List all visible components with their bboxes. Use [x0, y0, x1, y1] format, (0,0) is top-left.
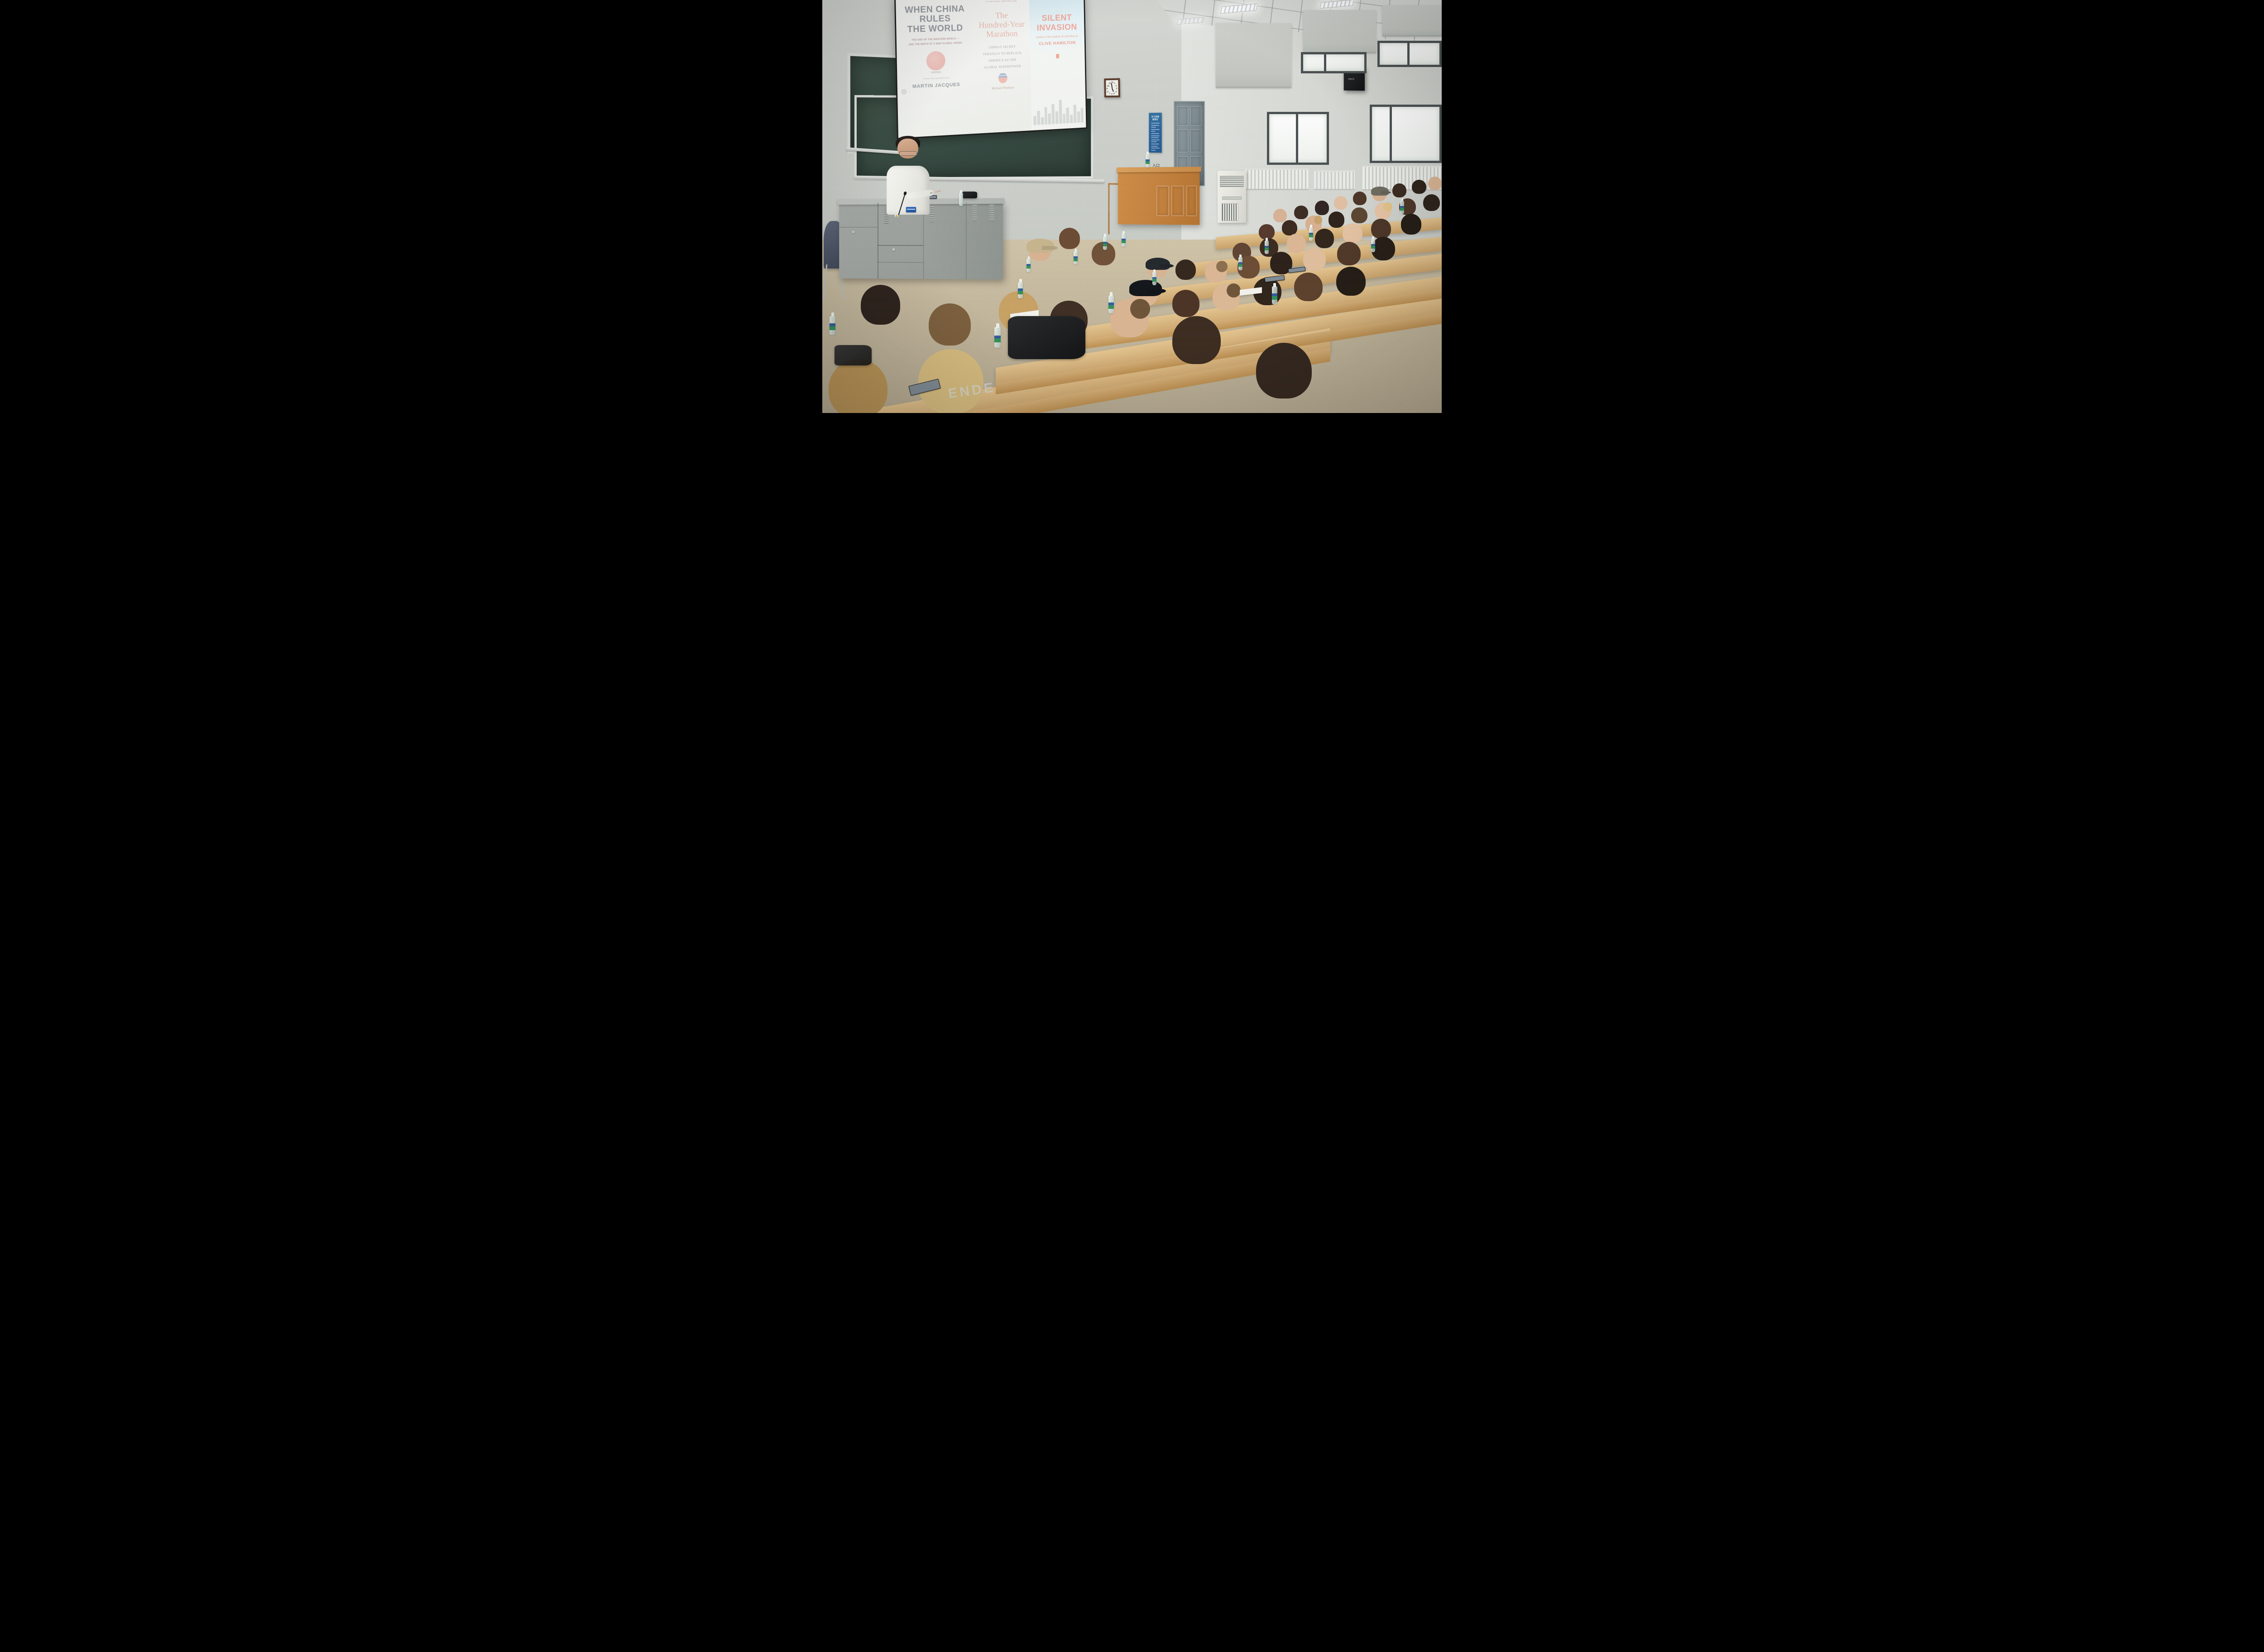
name-placard: [906, 207, 916, 212]
wall-clock: 12 1 2 3 4 5 6 7 8 9 10 11: [1104, 78, 1120, 98]
radiator-3: [1314, 170, 1355, 190]
clock-hour-hand: [1112, 88, 1114, 92]
notice-text-line: [1151, 139, 1159, 140]
water-bottle-on-console[interactable]: [959, 192, 963, 206]
book1-subtitle-line-2: AND THE BIRTH OF A NEW GLOBAL ORDER: [908, 41, 962, 47]
clock-numeral-10: 10: [1107, 85, 1109, 87]
water-bottle[interactable]: [1108, 295, 1114, 313]
water-bottle[interactable]: [1152, 272, 1156, 285]
notice-text-line: [1151, 144, 1159, 144]
water-bottle[interactable]: [1265, 240, 1269, 254]
floor-air-conditioner: [1218, 171, 1246, 223]
flag-egg-illustration: [998, 72, 1007, 83]
notice-text-line: [1151, 148, 1160, 149]
book3-title-line-1: SILENT: [1041, 13, 1072, 23]
book1-title-line-2: RULES: [919, 14, 950, 24]
book2-author: Michael Pillsbury: [991, 85, 1014, 90]
presenter-shirt: [887, 166, 930, 215]
wristwatch: [930, 192, 933, 194]
book1-title-line-1: WHEN CHINA: [905, 4, 965, 15]
roller-blind-3[interactable]: [1382, 5, 1442, 35]
water-bottle[interactable]: [1238, 257, 1242, 270]
clock-numeral-3: 3: [1116, 87, 1118, 90]
book1-blurb: THE NEW YORK TIMES BESTSELLER: [923, 77, 950, 81]
book2-title-line-2: Hundred-Year: [979, 19, 1025, 30]
water-bottle[interactable]: [1122, 233, 1126, 247]
notice-text-line: [1151, 137, 1158, 138]
notice-text-line: [1151, 129, 1159, 130]
notice-text-line: [1151, 150, 1156, 151]
notice-text-line: [1151, 145, 1158, 146]
wooden-lectern: [1118, 170, 1200, 225]
book-cover-when-china-rules-the-world: WHEN CHINA RULES THE WORLD THE END OF TH…: [896, 0, 976, 138]
red-flag-mark-icon: [1056, 54, 1059, 59]
bag-on-desk: [835, 345, 872, 366]
book-cover-the-hundred-year-marathon: #1 NATIONAL BESTSELLER The Hundred-Year …: [973, 0, 1031, 134]
clock-numeral-2: 2: [1116, 85, 1117, 87]
clock-numeral-7: 7: [1109, 92, 1111, 95]
window-lower-center: [1267, 112, 1329, 165]
book2-title-line-3: Marathon: [986, 29, 1017, 39]
book2-bestseller-line: #1 NATIONAL BESTSELLER: [986, 0, 1017, 3]
notice-text-line: [1151, 133, 1159, 134]
water-bottle[interactable]: [1103, 236, 1107, 250]
penguin-logo-icon: [901, 89, 906, 94]
radiator-1: [1245, 168, 1309, 190]
roller-blind-2[interactable]: [1303, 10, 1376, 52]
clock-numeral-4: 4: [1116, 91, 1117, 93]
object-on-console: [962, 192, 977, 198]
book3-subtitle: CHINA'S INFLUENCE IN AUSTRALIA: [1036, 35, 1078, 39]
window-lower-right: [1370, 105, 1442, 163]
presenter-at-lectern: [886, 139, 931, 215]
water-bottle[interactable]: [1074, 251, 1078, 264]
book2-subtitle-line-4: GLOBAL SUPERPOWER: [984, 63, 1021, 71]
book2-title-line-1: The: [995, 11, 1008, 20]
lectern-top-surface: [1117, 167, 1201, 172]
projection-screen: WHEN CHINA RULES THE WORLD THE END OF TH…: [894, 0, 1087, 139]
water-bottle-on-lectern[interactable]: [1146, 154, 1150, 168]
water-bottle[interactable]: [1400, 201, 1404, 214]
globe-illustration: [926, 51, 945, 71]
water-bottle[interactable]: [1026, 259, 1031, 272]
notice-text-line: [1151, 135, 1160, 136]
water-bottle[interactable]: [1371, 239, 1375, 252]
wall-notice-board: 自习室管理规定: [1149, 113, 1161, 153]
water-bottle[interactable]: [1272, 286, 1277, 304]
lecture-hall-photo: WHEN CHINA RULES THE WORLD THE END OF TH…: [822, 0, 1442, 413]
presenter-eyeglasses: [899, 151, 917, 156]
clock-numeral-5: 5: [1114, 92, 1115, 95]
book-cover-silent-invasion: SILENT INVASION CHINA'S INFLUENCE IN AUS…: [1029, 0, 1086, 130]
water-bottle[interactable]: [1018, 282, 1023, 298]
clock-numeral-1: 1: [1114, 82, 1116, 85]
water-bottle[interactable]: [994, 327, 1001, 348]
notice-text-line: [1151, 127, 1156, 128]
water-bottle[interactable]: [830, 316, 835, 335]
notice-text-line: [1151, 125, 1159, 126]
notice-title: 自习室管理规定: [1151, 115, 1160, 121]
notice-text-line: [1151, 123, 1160, 124]
clock-numeral-9: 9: [1107, 88, 1108, 90]
backpack-on-desk: [1008, 316, 1085, 360]
globe-stand: [931, 71, 941, 73]
ac-control-panel[interactable]: [1222, 197, 1242, 200]
book1-author: MARTIN JACQUES: [912, 82, 960, 89]
microphone: [898, 193, 905, 215]
clock-numeral-6: 6: [1112, 93, 1113, 95]
notice-text-line: [1151, 141, 1157, 142]
presenter-arm: [907, 189, 934, 200]
water-bottle[interactable]: [1309, 227, 1313, 241]
book3-author: CLIVE HAMILTON: [1039, 40, 1076, 46]
slide-three-book-covers: WHEN CHINA RULES THE WORLD THE END OF TH…: [896, 0, 1086, 138]
roller-blind-1[interactable]: [1216, 23, 1291, 87]
notice-text-line: [1151, 131, 1155, 132]
clock-numeral-8: 8: [1108, 91, 1109, 93]
book3-title-line-2: INVASION: [1036, 23, 1077, 33]
book1-title-line-3: THE WORLD: [907, 24, 963, 35]
clock-minute-hand: [1111, 83, 1113, 88]
window-upper-right-2: [1377, 41, 1442, 67]
speaker-brand-label: PRCO: [1348, 78, 1355, 80]
city-skyline-illustration: [1033, 96, 1084, 125]
window-upper-right-1: [1301, 52, 1367, 73]
